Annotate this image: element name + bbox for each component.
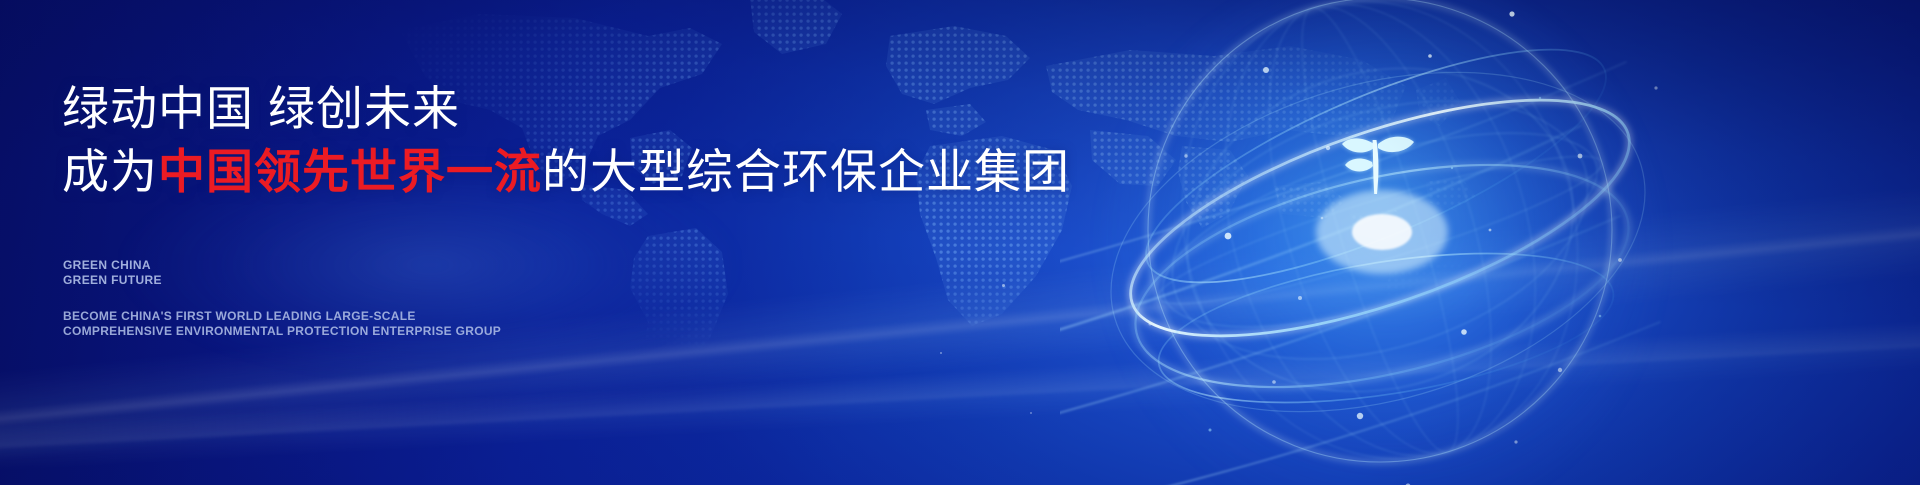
subtitle-english-line-2: COMPREHENSIVE ENVIRONMENTAL PROTECTION E… [63, 324, 501, 339]
particle-dot [940, 352, 942, 354]
hero-banner: 绿动中国 绿创未来 成为中国领先世界一流的大型综合环保企业集团 GREEN CH… [0, 0, 1920, 485]
headline-line-1: 绿动中国 绿创未来 [62, 78, 1070, 141]
headline-line-2: 成为中国领先世界一流的大型综合环保企业集团 [62, 141, 1070, 204]
headline-line-2-accent: 中国领先世界一流 [158, 145, 542, 198]
headline-line-2-prefix: 成为 [62, 145, 158, 198]
banner-content: 绿动中国 绿创未来 成为中国领先世界一流的大型综合环保企业集团 GREEN CH… [62, 0, 1062, 485]
particle-dot [1002, 284, 1005, 287]
subtitle-english-line-1: BECOME CHINA'S FIRST WORLD LEADING LARGE… [63, 309, 501, 324]
particle-dot [1030, 412, 1032, 414]
headline-line-2-suffix: 的大型综合环保企业集团 [542, 145, 1070, 198]
subtitle-english: BECOME CHINA'S FIRST WORLD LEADING LARGE… [63, 309, 501, 339]
tagline-english-line-2: GREEN FUTURE [63, 273, 162, 288]
tagline-english: GREEN CHINA GREEN FUTURE [63, 258, 162, 288]
tagline-english-line-1: GREEN CHINA [63, 258, 162, 273]
page-title: 绿动中国 绿创未来 成为中国领先世界一流的大型综合环保企业集团 [62, 78, 1070, 203]
